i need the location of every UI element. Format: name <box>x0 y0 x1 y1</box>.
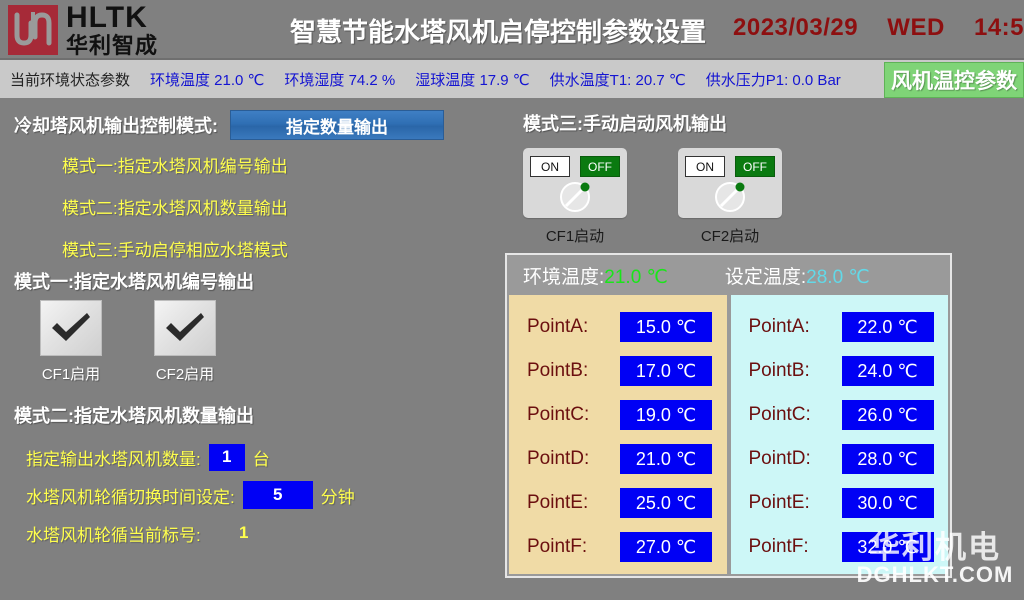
mode-three-heading: 模式三:手动启动风机输出 <box>523 110 727 136</box>
clock-date: 2023/03/29 <box>733 14 858 41</box>
table-row: PointF: 32.0 ℃ <box>731 525 949 569</box>
point-label: PointF: <box>527 536 620 558</box>
status-wetbulb-temp: 湿球温度 17.9 ℃ <box>415 69 529 90</box>
mode-one-heading: 模式一:指定水塔风机编号输出 <box>14 268 254 294</box>
check-icon <box>49 311 93 345</box>
status-bar: 当前环境状态参数 环境温度 21.0 ℃ 环境湿度 74.2 % 湿球温度 17… <box>0 58 1024 98</box>
point-label: PointC: <box>527 404 620 426</box>
switch-cell-cf1: ON OFF CF1启动 <box>523 148 627 246</box>
setpoint-temperature-label: 设定温度: <box>725 267 806 288</box>
setpoint-temperature-group: 设定温度:28.0 ℃ <box>725 262 870 289</box>
switch-cf1-off-button[interactable]: OFF <box>580 156 620 177</box>
rotation-current-index-value: 1 <box>209 523 279 543</box>
point-value-input[interactable]: 24.0 ℃ <box>842 356 934 386</box>
checkbox-cf1[interactable] <box>40 300 102 356</box>
ambient-temperature-label: 环境温度: <box>523 267 604 288</box>
point-value-input[interactable]: 30.0 ℃ <box>842 488 934 518</box>
table-row: PointD: 21.0 ℃ <box>509 437 727 481</box>
switch-cf2-off-button[interactable]: OFF <box>735 156 775 177</box>
table-row: PointC: 19.0 ℃ <box>509 393 727 437</box>
mode-two-rows: 指定输出水塔风机数量: 1 台 水塔风机轮循切换时间设定: 5 分钟 水塔风机轮… <box>26 438 355 552</box>
check-icon <box>163 311 207 345</box>
rotary-knob-icon[interactable] <box>557 178 593 219</box>
setpoint-temperature-value: 28.0 ℃ <box>806 267 870 288</box>
point-label: PointE: <box>527 492 620 514</box>
status-title: 当前环境状态参数 <box>10 69 130 90</box>
point-value-input[interactable]: 26.0 ℃ <box>842 400 934 430</box>
table-row: PointB: 24.0 ℃ <box>731 349 949 393</box>
clock-time: 14:59:2 <box>974 14 1024 41</box>
temperature-column-left: PointA: 15.0 ℃ PointB: 17.0 ℃ PointC: 19… <box>509 295 727 574</box>
status-supply-pressure-p1: 供水压力P1: 0.0 Bar <box>706 69 841 90</box>
switch-cf2-on-button[interactable]: ON <box>685 156 725 177</box>
fan-quantity-row: 指定输出水塔风机数量: 1 台 <box>26 438 355 476</box>
point-value-input[interactable]: 15.0 ℃ <box>620 312 712 342</box>
point-label: PointF: <box>749 536 842 558</box>
rotary-knob-icon[interactable] <box>712 178 748 219</box>
brand-logo: HLTK 华利智成 <box>8 3 158 57</box>
switch-cf1-on-button[interactable]: ON <box>530 156 570 177</box>
table-row: PointC: 26.0 ℃ <box>731 393 949 437</box>
fan-quantity-input[interactable]: 1 <box>209 444 245 471</box>
table-row: PointE: 30.0 ℃ <box>731 481 949 525</box>
hltk-logo-icon <box>8 5 58 55</box>
temperature-columns: PointA: 15.0 ℃ PointB: 17.0 ℃ PointC: 19… <box>507 295 950 576</box>
rotation-interval-row: 水塔风机轮循切换时间设定: 5 分钟 <box>26 476 355 514</box>
fan-quantity-unit: 台 <box>253 445 270 470</box>
fan-temperature-param-button[interactable]: 风机温控参数 <box>884 62 1024 98</box>
status-ambient-humidity: 环境湿度 74.2 % <box>284 69 395 90</box>
switch-cf1-label: CF1启动 <box>546 225 604 246</box>
logo-en-text: HLTK <box>66 3 158 33</box>
table-row: PointB: 17.0 ℃ <box>509 349 727 393</box>
table-row: PointF: 27.0 ℃ <box>509 525 727 569</box>
point-label: PointB: <box>749 360 842 382</box>
switch-panel-cf1[interactable]: ON OFF <box>523 148 627 218</box>
control-mode-option-1[interactable]: 模式一:指定水塔风机编号输出 <box>62 152 288 177</box>
control-mode-option-3[interactable]: 模式三:手动启停相应水塔模式 <box>62 236 288 261</box>
status-ambient-temp: 环境温度 21.0 ℃ <box>150 69 264 90</box>
point-value-input[interactable]: 32.0 ℃ <box>842 532 934 562</box>
point-value-input[interactable]: 17.0 ℃ <box>620 356 712 386</box>
switch-panel-cf2[interactable]: ON OFF <box>678 148 782 218</box>
mode-three-switch-row: ON OFF CF1启动 ON OFF CF <box>523 148 782 246</box>
checkbox-cell-cf1: CF1启用 <box>36 300 106 384</box>
table-row: PointE: 25.0 ℃ <box>509 481 727 525</box>
checkbox-cf2[interactable] <box>154 300 216 356</box>
point-value-input[interactable]: 25.0 ℃ <box>620 488 712 518</box>
point-value-input[interactable]: 28.0 ℃ <box>842 444 934 474</box>
rotation-current-index-label: 水塔风机轮循当前标号: <box>26 521 201 546</box>
app-header: HLTK 华利智成 智慧节能水塔风机启停控制参数设置 2023/03/29 WE… <box>0 0 1024 58</box>
table-row: PointA: 15.0 ℃ <box>509 305 727 349</box>
ambient-temperature-group: 环境温度:21.0 ℃ <box>523 262 668 289</box>
switch-cell-cf2: ON OFF CF2启动 <box>678 148 782 246</box>
status-items: 当前环境状态参数 环境温度 21.0 ℃ 环境湿度 74.2 % 湿球温度 17… <box>10 69 841 90</box>
rotation-current-index-row: 水塔风机轮循当前标号: 1 <box>26 514 355 552</box>
table-row: PointD: 28.0 ℃ <box>731 437 949 481</box>
temperature-panel-header: 环境温度:21.0 ℃ 设定温度:28.0 ℃ <box>507 255 950 295</box>
point-label: PointA: <box>527 316 620 338</box>
ambient-temperature-value: 21.0 ℃ <box>604 267 668 288</box>
switch-cf2-label: CF2启动 <box>701 225 759 246</box>
point-label: PointB: <box>527 360 620 382</box>
page-title: 智慧节能水塔风机启停控制参数设置 <box>290 12 706 49</box>
checkbox-cell-cf2: CF2启用 <box>150 300 220 384</box>
status-supply-temp-t1: 供水温度T1: 20.7 ℃ <box>550 69 686 90</box>
control-mode-options: 模式一:指定水塔风机编号输出 模式二:指定水塔风机数量输出 模式三:手动启停相应… <box>62 152 288 278</box>
point-value-input[interactable]: 21.0 ℃ <box>620 444 712 474</box>
point-value-input[interactable]: 19.0 ℃ <box>620 400 712 430</box>
checkbox-cf2-label: CF2启用 <box>156 363 214 384</box>
control-mode-option-2[interactable]: 模式二:指定水塔风机数量输出 <box>62 194 288 219</box>
clock-weekday: WED <box>887 14 945 41</box>
point-label: PointE: <box>749 492 842 514</box>
rotation-interval-label: 水塔风机轮循切换时间设定: <box>26 483 235 508</box>
logo-cn-text: 华利智成 <box>66 35 158 57</box>
point-label: PointC: <box>749 404 842 426</box>
rotation-interval-unit: 分钟 <box>321 483 355 508</box>
checkbox-cf1-label: CF1启用 <box>42 363 100 384</box>
control-mode-label: 冷却塔风机输出控制模式: <box>14 112 218 138</box>
fan-quantity-label: 指定输出水塔风机数量: <box>26 445 201 470</box>
temperature-column-right: PointA: 22.0 ℃ PointB: 24.0 ℃ PointC: 26… <box>731 295 949 574</box>
clock: 2023/03/29 WED 14:59:2 <box>733 14 1024 42</box>
control-mode-selector[interactable]: 指定数量输出 <box>230 110 444 140</box>
point-label: PointD: <box>749 448 842 470</box>
table-row: PointA: 22.0 ℃ <box>731 305 949 349</box>
point-label: PointA: <box>749 316 842 338</box>
point-label: PointD: <box>527 448 620 470</box>
point-value-input[interactable]: 22.0 ℃ <box>842 312 934 342</box>
mode-two-heading: 模式二:指定水塔风机数量输出 <box>14 402 254 428</box>
point-value-input[interactable]: 27.0 ℃ <box>620 532 712 562</box>
control-mode-row: 冷却塔风机输出控制模式: 指定数量输出 <box>14 110 444 140</box>
rotation-interval-input[interactable]: 5 <box>243 481 313 509</box>
temperature-panel: 环境温度:21.0 ℃ 设定温度:28.0 ℃ PointA: 15.0 ℃ P… <box>505 253 952 578</box>
mode-one-checkbox-row: CF1启用 CF2启用 <box>36 300 220 384</box>
